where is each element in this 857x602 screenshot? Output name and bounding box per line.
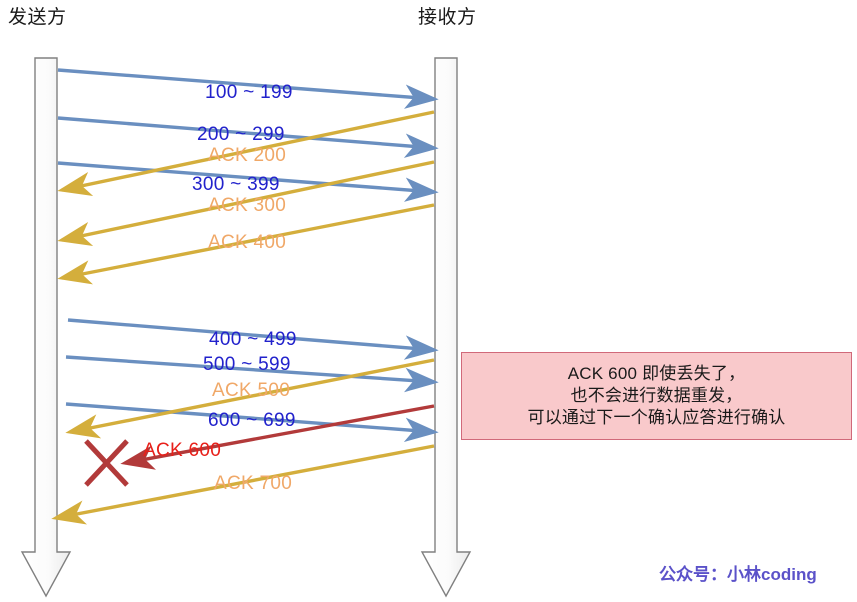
segment-label-500-599: 500 ~ 599: [203, 354, 291, 376]
diagram-canvas: 发送方 接收方 100 ~ 199 200 ~ 299 300 ~ 399 40…: [0, 0, 857, 602]
segment-label-200-299: 200 ~ 299: [197, 124, 285, 146]
ack-label-700: ACK 700: [214, 473, 292, 495]
packet-loss-cross-icon: [86, 441, 127, 485]
watermark-credit: 公众号：小林coding: [659, 560, 817, 585]
receiver-title: 接收方: [418, 2, 477, 29]
receiver-lifeline: [422, 58, 470, 596]
ack-label-400: ACK 400: [208, 232, 286, 254]
segment-label-400-499: 400 ~ 499: [209, 329, 297, 351]
segment-label-100-199: 100 ~ 199: [205, 82, 293, 104]
segment-label-600-699: 600 ~ 699: [208, 410, 296, 432]
ack-label-200: ACK 200: [208, 145, 286, 167]
explanation-note-box: ACK 600 即使丢失了， 也不会进行数据重发， 可以通过下一个确认应答进行确…: [461, 352, 852, 440]
ack-label-500: ACK 500: [212, 380, 290, 402]
note-line-2: 也不会进行数据重发，: [571, 385, 743, 407]
note-line-1: ACK 600 即使丢失了，: [568, 363, 746, 385]
sender-title: 发送方: [8, 2, 67, 29]
sequence-diagram-graphics: [0, 0, 857, 602]
ack-label-600-lost: ACK 600: [143, 440, 221, 462]
segment-label-300-399: 300 ~ 399: [192, 174, 280, 196]
ack-label-300: ACK 300: [208, 195, 286, 217]
note-line-3: 可以通过下一个确认应答进行确认: [528, 407, 786, 429]
